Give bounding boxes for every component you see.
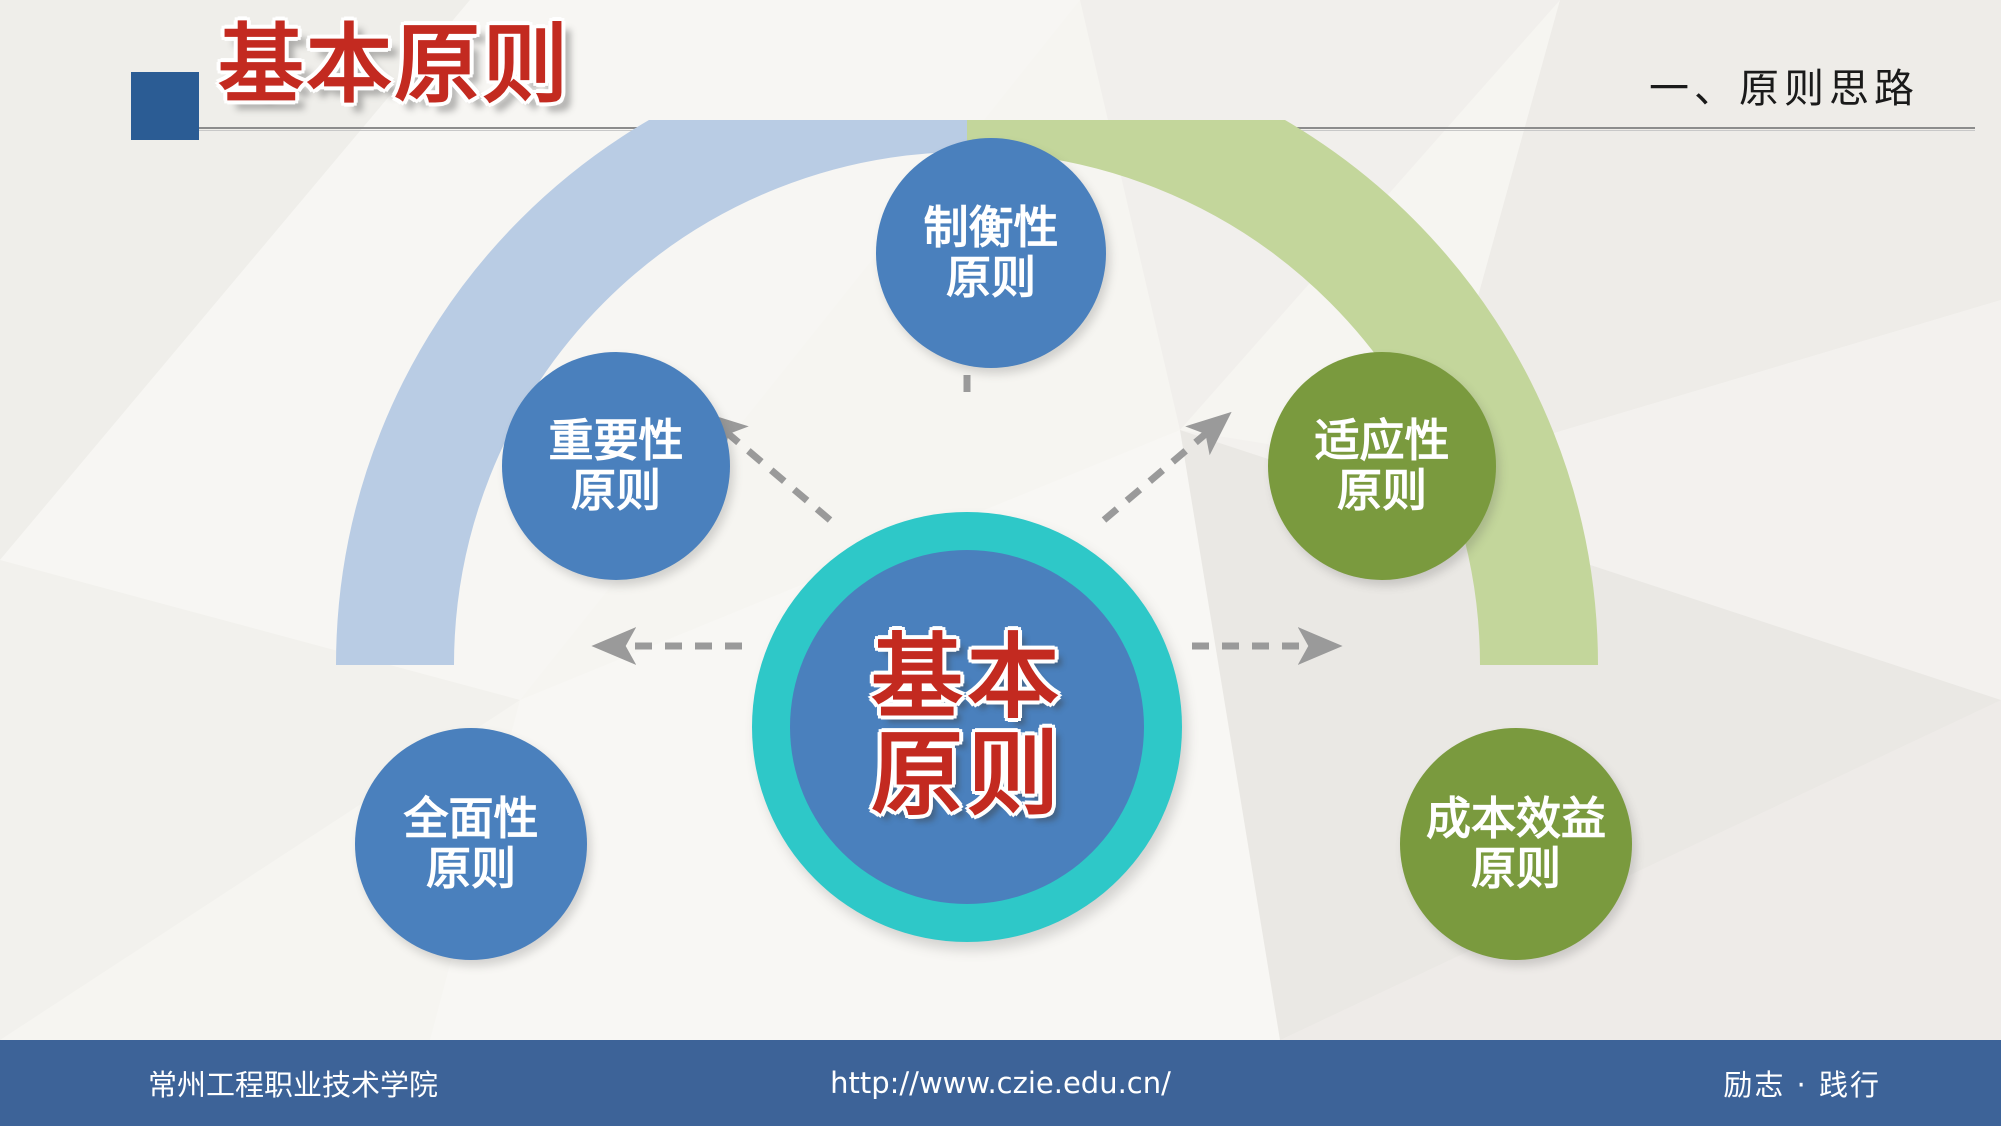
footer-institution: 常州工程职业技术学院 — [148, 1062, 438, 1104]
node-upper-right-line1: 适应性 — [1314, 416, 1449, 466]
node-lower-left-line2: 原则 — [426, 844, 516, 894]
node-适应性原则[interactable]: 适应性 原则 — [1268, 352, 1496, 580]
node-重要性原则[interactable]: 重要性 原则 — [502, 352, 730, 580]
slide-canvas: 基本原则 一、原则思路 — [0, 0, 2001, 1126]
center-hub-ring: 基本 原则 — [752, 512, 1182, 942]
center-hub-core[interactable]: 基本 原则 — [790, 550, 1144, 904]
principles-diagram: 制衡性 原则 重要性 原则 适应性 原则 全面性 原则 成本效益 原则 基本 原… — [0, 120, 2001, 1020]
center-hub-line1: 基本 — [871, 630, 1063, 727]
section-label: 一、原则思路 — [1649, 56, 1919, 114]
footer-url[interactable]: http://www.czie.edu.cn/ — [830, 1066, 1171, 1100]
center-hub-line2: 原则 — [871, 727, 1063, 824]
node-lower-right-line2: 原则 — [1471, 844, 1561, 894]
node-upper-left-line1: 重要性 — [548, 416, 683, 466]
node-upper-right-line2: 原则 — [1337, 466, 1427, 516]
node-成本效益原则[interactable]: 成本效益 原则 — [1400, 728, 1632, 960]
node-lower-left-line1: 全面性 — [403, 794, 538, 844]
footer-motto: 励志 · 践行 — [1723, 1062, 1881, 1104]
node-全面性原则[interactable]: 全面性 原则 — [355, 728, 587, 960]
node-top-line1: 制衡性 — [923, 203, 1058, 253]
slide-footer: 常州工程职业技术学院 http://www.czie.edu.cn/ 励志 · … — [0, 1040, 2001, 1126]
node-lower-right-line1: 成本效益 — [1426, 794, 1606, 844]
node-upper-left-line2: 原则 — [571, 466, 661, 516]
page-title: 基本原则 — [218, 22, 570, 108]
node-top-line2: 原则 — [946, 253, 1036, 303]
node-制衡性原则[interactable]: 制衡性 原则 — [876, 138, 1106, 368]
